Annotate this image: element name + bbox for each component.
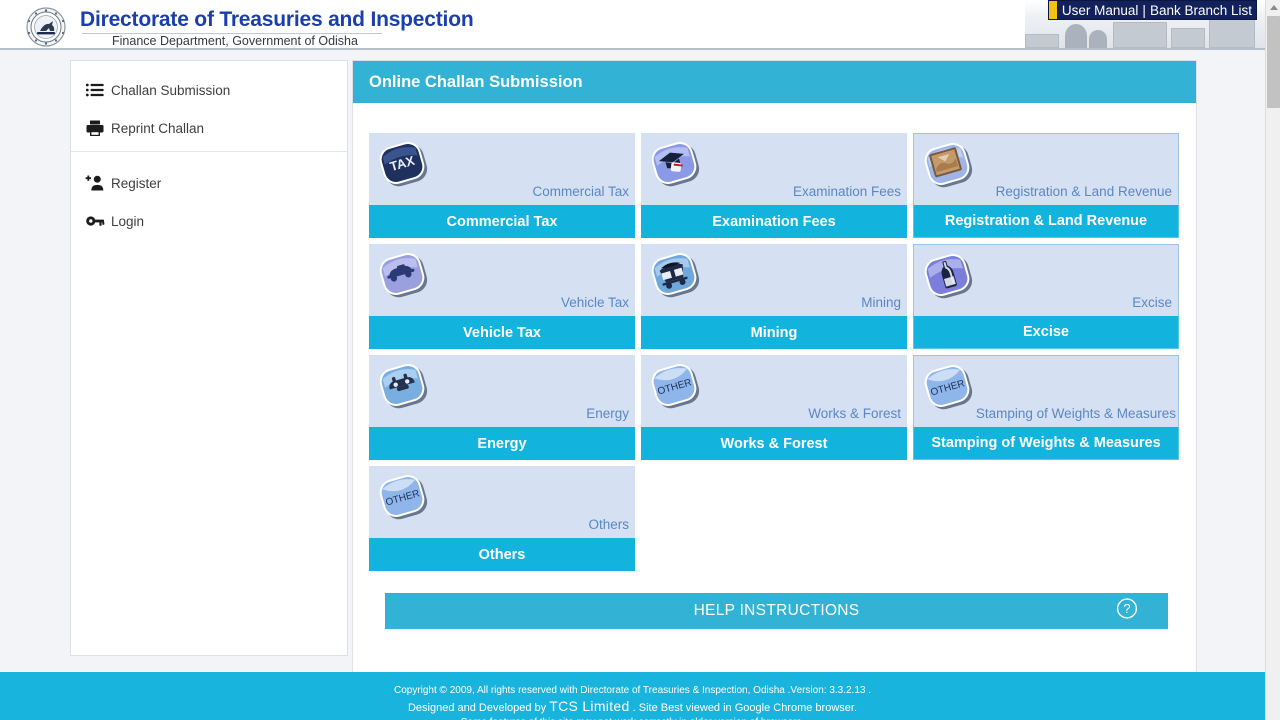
sidebar-group-challan: Challan Submission Reprint — [71, 61, 347, 151]
sidebar-item-login[interactable]: Login — [71, 202, 347, 240]
tile-top: Energy — [369, 355, 635, 427]
topnav-separator: | — [1142, 3, 1146, 18]
key-icon — [85, 211, 105, 231]
footer-credits-prefix: Designed and Developed by — [408, 702, 549, 714]
sidebar-item-label: Reprint Challan — [111, 121, 204, 136]
sidebar-group-account: Register L — [71, 151, 347, 244]
sidebar-item-label: Login — [111, 214, 144, 229]
tile-caption: Commercial Tax — [369, 205, 635, 238]
sidebar: Challan Submission Reprint — [70, 60, 348, 656]
chevron-up-icon — [1270, 5, 1278, 10]
tile-top: OTHER Works & Forest — [641, 355, 907, 427]
tile-label: Examination Fees — [793, 184, 901, 199]
topnav-accent-bar — [1049, 1, 1057, 19]
tile-label: Works & Forest — [808, 406, 901, 421]
tile-label: Registration & Land Revenue — [996, 184, 1172, 199]
tile-excise[interactable]: Excise Excise — [913, 244, 1179, 349]
tile-caption: Vehicle Tax — [369, 316, 635, 349]
other-badge-icon: OTHER — [375, 470, 437, 528]
top-nav: User Manual | Bank Branch List — [1048, 0, 1257, 20]
help-instructions-label: HELP INSTRUCTIONS — [694, 602, 860, 620]
tile-mining[interactable]: Mining Mining — [641, 244, 907, 349]
land-document-icon — [920, 138, 982, 196]
footer-tcs-brand: TCS Limited — [549, 698, 629, 714]
sidebar-item-label: Register — [111, 176, 161, 191]
question-circle-icon[interactable]: ? — [1116, 598, 1138, 625]
page-scrollbar[interactable] — [1265, 0, 1280, 720]
tile-works-forest[interactable]: OTHER Works & Forest Works & Forest — [641, 355, 907, 460]
tile-label: Others — [588, 517, 629, 532]
tile-label: Excise — [1132, 295, 1172, 310]
tile-caption: Others — [369, 538, 635, 571]
tile-examination-fees[interactable]: Examination Fees Examination Fees — [641, 133, 907, 238]
tile-label: Stamping of Weights & Measures — [976, 406, 1176, 421]
main-panel: Online Challan Submission — [352, 60, 1197, 704]
tile-label: Energy — [586, 406, 629, 421]
tile-top: OTHER Stamping of Weights & Measures — [913, 355, 1179, 427]
tile-caption: Excise — [913, 316, 1179, 349]
sidebar-item-reprint-challan[interactable]: Reprint Challan — [71, 109, 347, 147]
tile-label: Commercial Tax — [532, 184, 629, 199]
tile-caption: Registration & Land Revenue — [913, 205, 1179, 238]
tile-commercial-tax[interactable]: TAX Commercial Tax Commercial Tax — [369, 133, 635, 238]
footer-credits: Designed and Developed by TCS Limited . … — [0, 698, 1265, 716]
scrollbar-thumb[interactable] — [1267, 16, 1280, 108]
sidebar-item-challan-submission[interactable]: Challan Submission — [71, 71, 347, 109]
tile-top: Registration & Land Revenue — [913, 133, 1179, 205]
panel-body: TAX Commercial Tax Commercial Tax — [353, 103, 1196, 629]
tile-energy[interactable]: Energy Energy — [369, 355, 635, 460]
tile-caption: Examination Fees — [641, 205, 907, 238]
bottle-icon — [920, 249, 982, 307]
list-icon — [85, 80, 105, 100]
tile-top: OTHER Others — [369, 466, 635, 538]
scroll-up-button[interactable] — [1266, 0, 1280, 15]
tile-caption: Energy — [369, 427, 635, 460]
tile-caption: Works & Forest — [641, 427, 907, 460]
tile-label: Mining — [861, 295, 901, 310]
other-badge-icon: OTHER — [647, 359, 709, 417]
bank-branch-list-link[interactable]: Bank Branch List — [1150, 3, 1252, 18]
tile-label: Vehicle Tax — [561, 295, 629, 310]
footer-browser-note: Some features of this site may not work … — [0, 716, 1265, 720]
tile-stamping-weights-measures[interactable]: OTHER Stamping of Weights & Measures Sta… — [913, 355, 1179, 460]
tax-badge-icon: TAX — [375, 137, 437, 195]
printer-icon — [85, 118, 105, 138]
service-tile-grid: TAX Commercial Tax Commercial Tax — [369, 133, 1182, 571]
vehicle-icon — [375, 248, 437, 306]
help-instructions-bar[interactable]: HELP INSTRUCTIONS ? — [385, 593, 1168, 629]
sidebar-item-label: Challan Submission — [111, 83, 230, 98]
odisha-state-emblem-icon — [20, 7, 72, 47]
user-manual-link[interactable]: User Manual — [1062, 3, 1139, 18]
tile-caption: Mining — [641, 316, 907, 349]
user-add-icon — [85, 173, 105, 193]
content-area: Challan Submission Reprint — [0, 52, 1265, 672]
panel-header: Online Challan Submission — [353, 61, 1196, 103]
sidebar-item-register[interactable]: Register — [71, 164, 347, 202]
tile-top: Excise — [913, 244, 1179, 316]
tile-others[interactable]: OTHER Others Others — [369, 466, 635, 571]
footer-copyright: Copyright © 2009, All rights reserved wi… — [0, 684, 1265, 698]
footer-credits-suffix: . Site Best viewed in Google Chrome brow… — [630, 702, 857, 714]
other-badge-icon: OTHER — [920, 360, 982, 418]
mine-cart-icon — [647, 248, 709, 306]
brand-title: Directorate of Treasuries and Inspection — [80, 8, 473, 32]
page-title: Online Challan Submission — [369, 73, 583, 92]
site-header: Directorate of Treasuries and Inspection… — [0, 0, 1265, 50]
tile-vehicle-tax[interactable]: Vehicle Tax Vehicle Tax — [369, 244, 635, 349]
tile-caption: Stamping of Weights & Measures — [913, 427, 1179, 460]
page-root: Directorate of Treasuries and Inspection… — [0, 0, 1280, 720]
tile-registration-land-revenue[interactable]: Registration & Land Revenue Registration… — [913, 133, 1179, 238]
tile-top: Mining — [641, 244, 907, 316]
brand-subtitle: Finance Department, Government of Odisha — [112, 34, 358, 48]
graduation-cap-icon — [647, 137, 709, 195]
site-footer: Copyright © 2009, All rights reserved wi… — [0, 672, 1265, 720]
tile-top: TAX Commercial Tax — [369, 133, 635, 205]
power-plug-icon — [375, 359, 437, 417]
tile-top: Examination Fees — [641, 133, 907, 205]
tile-top: Vehicle Tax — [369, 244, 635, 316]
svg-text:?: ? — [1123, 601, 1130, 616]
